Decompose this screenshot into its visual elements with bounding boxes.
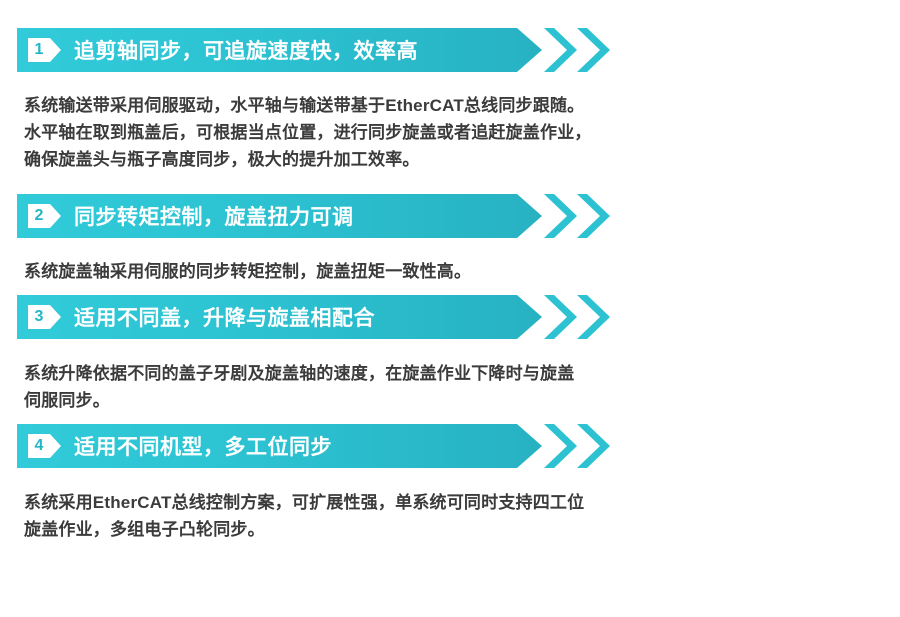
badge-arrow-icon — [50, 434, 61, 458]
banner-bar: 3 适用不同盖，升降与旋盖相配合 — [17, 295, 542, 339]
chevron-right-icon — [544, 424, 578, 468]
banner-bar: 1 追剪轴同步，可追旋速度快，效率高 — [17, 28, 542, 72]
number-badge-3: 3 — [28, 305, 61, 329]
feature-title-2: 同步转矩控制，旋盖扭力可调 — [74, 201, 354, 231]
feature-body-wrap-2: 系统旋盖轴采用伺服的同步转矩控制，旋盖扭矩一致性高。 — [24, 258, 824, 285]
badge-number-label: 4 — [28, 434, 50, 458]
chevron-right-icon — [577, 295, 611, 339]
number-badge-1: 1 — [28, 38, 61, 62]
feature-body-wrap-4: 系统采用EtherCAT总线控制方案，可扩展性强，单系统可同时支持四工位 旋盖作… — [24, 489, 814, 543]
feature-title-3: 适用不同盖，升降与旋盖相配合 — [74, 302, 375, 332]
chevron-right-icon — [544, 194, 578, 238]
feature-section-4: 4 适用不同机型，多工位同步 系统采用EtherCAT总线控制方案，可扩展性强，… — [0, 424, 814, 543]
feature-banner-2: 2 同步转矩控制，旋盖扭力可调 — [17, 194, 617, 238]
feature-banner-4: 4 适用不同机型，多工位同步 — [17, 424, 617, 468]
feature-section-1: 1 追剪轴同步，可追旋速度快，效率高 系统输送带采用伺服驱动，水平轴与输送带基于… — [0, 28, 824, 173]
number-badge-4: 4 — [28, 434, 61, 458]
feature-list-page: 1 追剪轴同步，可追旋速度快，效率高 系统输送带采用伺服驱动，水平轴与输送带基于… — [0, 0, 900, 617]
chevron-right-icon — [544, 295, 578, 339]
badge-number-label: 3 — [28, 305, 50, 329]
banner-bar: 2 同步转矩控制，旋盖扭力可调 — [17, 194, 542, 238]
badge-arrow-icon — [50, 305, 61, 329]
feature-body-1: 系统输送带采用伺服驱动，水平轴与输送带基于EtherCAT总线同步跟随。 水平轴… — [24, 92, 824, 173]
badge-number-label: 1 — [28, 38, 50, 62]
number-badge-2: 2 — [28, 204, 61, 228]
chevron-right-icon — [577, 424, 611, 468]
feature-body-2: 系统旋盖轴采用伺服的同步转矩控制，旋盖扭矩一致性高。 — [24, 258, 824, 285]
feature-title-4: 适用不同机型，多工位同步 — [74, 431, 332, 461]
feature-section-3: 3 适用不同盖，升降与旋盖相配合 系统升降依据不同的盖子牙剧及旋盖轴的速度，在旋… — [0, 295, 784, 414]
chevron-right-icon — [577, 194, 611, 238]
feature-body-wrap-3: 系统升降依据不同的盖子牙剧及旋盖轴的速度，在旋盖作业下降时与旋盖 伺服同步。 — [24, 360, 784, 414]
chevron-right-icon — [544, 28, 578, 72]
feature-banner-3: 3 适用不同盖，升降与旋盖相配合 — [17, 295, 617, 339]
badge-arrow-icon — [50, 204, 61, 228]
badge-arrow-icon — [50, 38, 61, 62]
badge-number-label: 2 — [28, 204, 50, 228]
feature-banner-1: 1 追剪轴同步，可追旋速度快，效率高 — [17, 28, 617, 72]
feature-body-wrap-1: 系统输送带采用伺服驱动，水平轴与输送带基于EtherCAT总线同步跟随。 水平轴… — [24, 92, 824, 173]
feature-section-2: 2 同步转矩控制，旋盖扭力可调 系统旋盖轴采用伺服的同步转矩控制，旋盖扭矩一致性… — [0, 194, 824, 285]
feature-title-1: 追剪轴同步，可追旋速度快，效率高 — [74, 35, 418, 65]
chevron-right-icon — [577, 28, 611, 72]
feature-body-3: 系统升降依据不同的盖子牙剧及旋盖轴的速度，在旋盖作业下降时与旋盖 伺服同步。 — [24, 360, 784, 414]
banner-bar: 4 适用不同机型，多工位同步 — [17, 424, 542, 468]
feature-body-4: 系统采用EtherCAT总线控制方案，可扩展性强，单系统可同时支持四工位 旋盖作… — [24, 489, 814, 543]
